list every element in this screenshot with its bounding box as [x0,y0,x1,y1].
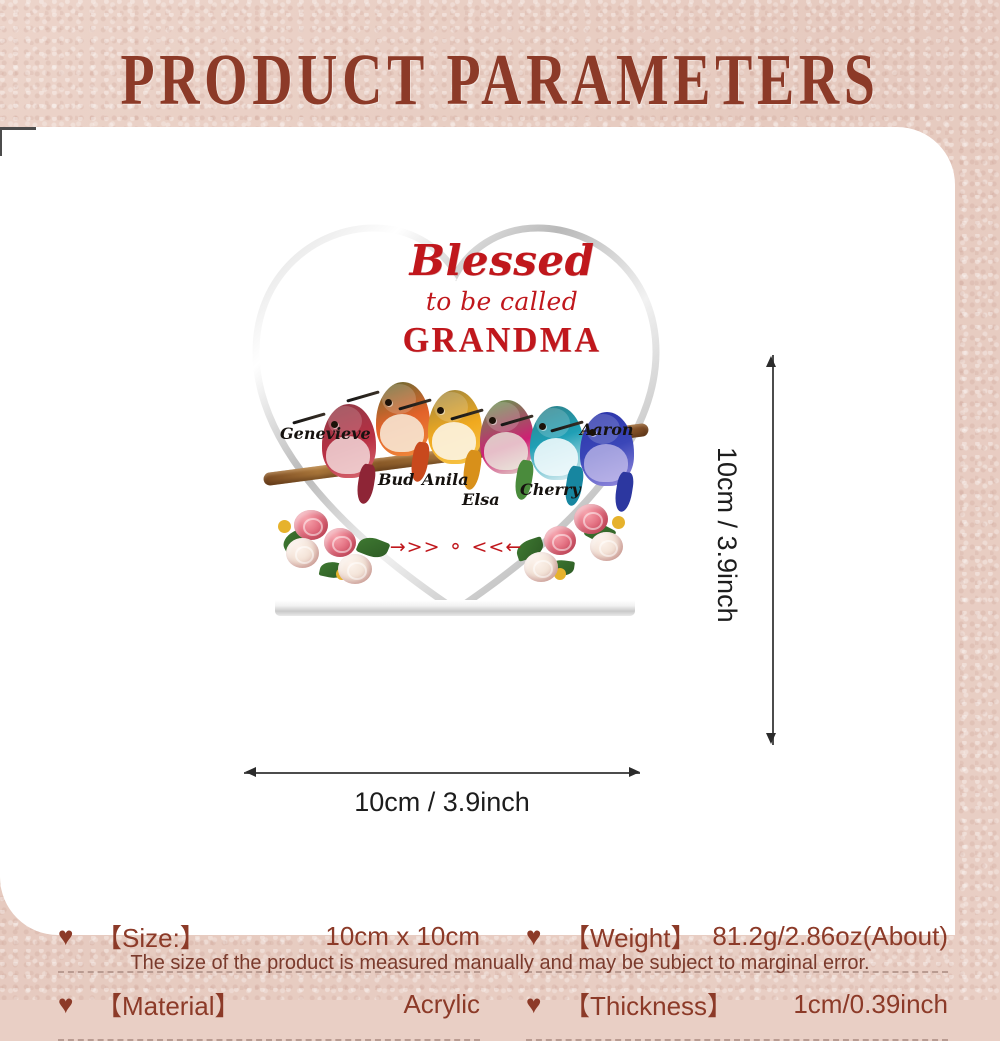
dimension-label-vertical: 10cm / 3.9inch [711,447,742,623]
heart-icon: ♥ [526,924,552,948]
rose-cluster-left [276,506,406,586]
dimension-tick-left [0,130,2,156]
dimension-tick-bottom [0,129,36,131]
dimension-label-horizontal: 10cm / 3.9inch [244,787,640,818]
bird-elsa [480,400,534,474]
bird-beak [346,390,380,402]
engraving-line-grandma: GRANDMA [368,321,636,361]
product-visual: Blessed to be called GRANDMA [200,212,900,807]
bird-name-bud: Bud [378,470,414,489]
spec-label-weight: 【Weight】 [564,918,696,955]
dimension-arrow-right [629,767,640,777]
heart-icon: ♥ [526,992,552,1016]
dimension-line-horizontal [244,772,640,774]
spec-value-weight: 81.2g/2.86oz(About) [712,921,948,952]
plaque-base [275,600,635,616]
spec-row-thickness: ♥ 【Thickness】 1cm/0.39inch [526,973,948,1041]
bird-name-cherry: Cherry [520,480,581,499]
rose-flower [544,526,576,555]
rose-cluster-right [508,502,638,582]
spec-label-size: 【Size:】 [96,918,206,955]
bird-name-aaron: Aaron [580,420,634,439]
spec-label-material: 【Material】 [96,986,240,1023]
bird-name-genevieve: Genevieve [280,424,371,443]
bird-eye [437,407,444,414]
rose-flower [574,504,608,534]
bird-name-anila: Anila [422,470,469,489]
engraving-line-blessed: Blessed [368,240,636,283]
product-card: Blessed to be called GRANDMA [0,127,955,935]
rose-flower [294,510,328,540]
engraving-line-tobecalled: to be called [368,283,636,321]
footer-disclaimer: The size of the product is measured manu… [0,952,1000,975]
spec-value-material: Acrylic [403,989,480,1020]
heart-plaque-image: Blessed to be called GRANDMA [250,212,662,617]
dimension-line-vertical [772,355,774,745]
rose-flower [338,554,372,584]
bird-cherry [530,406,584,480]
bird-eye [385,399,392,406]
rose-flower [590,532,623,561]
dimension-arrow-up [766,356,776,367]
bird-bud [376,382,430,456]
spec-row-material: ♥ 【Material】 Acrylic [58,973,480,1041]
rose-bud [612,516,625,529]
rose-bud [278,520,291,533]
bird-eye [539,423,546,430]
dimension-arrow-left [245,767,256,777]
page-title: PRODUCT PARAMETERS [35,38,965,122]
rose-flower [286,538,319,568]
heart-icon: ♥ [58,992,84,1016]
dimension-arrow-down [766,733,776,744]
ornament-divider: →>> ⚬ <<← [390,536,523,558]
spec-value-size: 10cm x 10cm [325,921,480,952]
engraved-text-block: Blessed to be called GRANDMA [368,240,636,360]
spec-label-thickness: 【Thickness】 [564,986,733,1023]
spec-value-thickness: 1cm/0.39inch [793,989,948,1020]
heart-icon: ♥ [58,924,84,948]
bird-beak [292,412,326,424]
bird-eye [489,417,496,424]
rose-flower [324,528,356,557]
rose-flower [524,552,558,582]
bird-anila [428,390,482,464]
